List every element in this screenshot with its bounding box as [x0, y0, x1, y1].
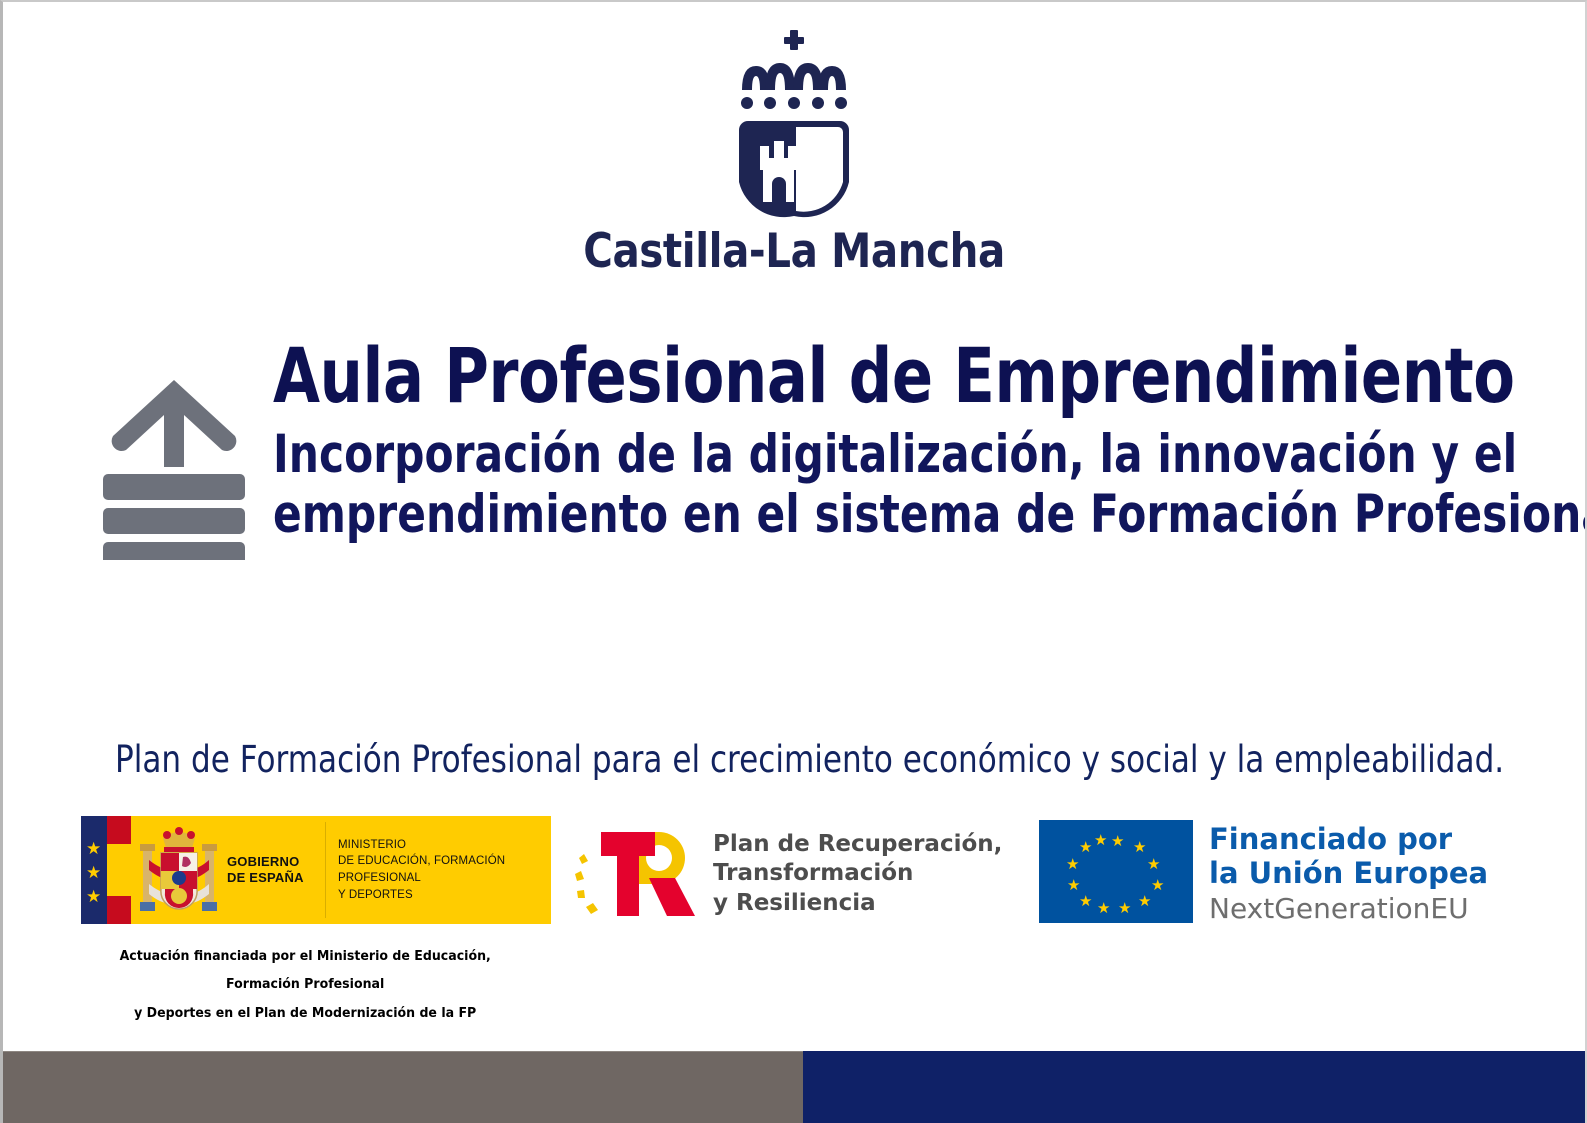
eu-funding-logo: ★ ★ ★ ★ ★ ★ ★ ★ ★ ★ ★ ★ Financiado por l… — [1039, 820, 1539, 930]
slide-canvas: Castilla-La Mancha Aula Profesional de E… — [0, 0, 1587, 1123]
prtr-line-1: Plan de Recuperación, — [713, 830, 1002, 859]
spain-coat-of-arms-icon — [131, 816, 227, 924]
gobierno-line-2: DE ESPAÑA — [227, 870, 304, 885]
funding-caption-line-1: Actuación financiada por el Ministerio d… — [95, 942, 515, 999]
eu-stars-strip-icon: ★ ★ ★ — [81, 816, 107, 924]
gobierno-de-espana-logo: ★ ★ ★ — [81, 816, 551, 924]
european-union-flag-icon: ★ ★ ★ ★ ★ ★ ★ ★ ★ ★ ★ ★ — [1039, 820, 1193, 923]
bottom-bar-right-navy — [803, 1051, 1585, 1123]
prtr-logo: Plan de Recuperación, Transformación y R… — [571, 822, 1011, 926]
prtr-line-3: y Resiliencia — [713, 889, 1002, 918]
ministry-label: MINISTERIO DE EDUCACIÓN, FORMACIÓN PROFE… — [338, 816, 551, 924]
funding-caption-line-2: y Deportes en el Plan de Modernización d… — [95, 999, 515, 1027]
eu-line-1: Financiado por — [1209, 822, 1488, 856]
bottom-bar-left-gray — [3, 1051, 803, 1123]
bottom-bar — [3, 1051, 1585, 1123]
logo-divider — [325, 822, 326, 918]
prtr-label: Plan de Recuperación, Transformación y R… — [713, 830, 1002, 918]
spain-flag-strip-icon — [107, 816, 131, 924]
brand-name: Castilla-La Mancha — [114, 224, 1475, 279]
gobierno-label: GOBIERNO DE ESPAÑA — [227, 816, 319, 924]
prtr-tr-monogram-icon — [571, 824, 699, 924]
funding-logos-row: ★ ★ ★ — [3, 814, 1585, 934]
gobierno-line-1: GOBIERNO — [227, 854, 299, 869]
plan-description-line: Plan de Formación Profesional para el cr… — [115, 738, 1504, 781]
prtr-line-2: Transformación — [713, 859, 1002, 888]
eu-line-2: la Unión Europea — [1209, 856, 1488, 890]
castilla-la-mancha-shield-icon — [714, 28, 874, 218]
eu-label: Financiado por la Unión Europea NextGene… — [1209, 820, 1488, 926]
funding-caption: Actuación financiada por el Ministerio d… — [95, 942, 515, 1027]
region-brand-block: Castilla-La Mancha — [3, 28, 1585, 279]
page-subtitle-line-2: emprendimiento en el sistema de Formació… — [273, 485, 1587, 544]
eu-line-3: NextGenerationEU — [1209, 892, 1488, 926]
ministry-line-3: Y DEPORTES — [338, 889, 413, 901]
ministry-line-1: MINISTERIO — [338, 839, 406, 851]
page-title: Aula Profesional de Emprendimiento — [273, 338, 1587, 413]
headline-text-block: Aula Profesional de Emprendimiento Incor… — [273, 338, 1587, 544]
page-subtitle-line-1: Incorporación de la digitalización, la i… — [273, 425, 1587, 484]
ministry-line-2: DE EDUCACIÓN, FORMACIÓN PROFESIONAL — [338, 855, 505, 884]
upload-stack-icon — [99, 374, 249, 565]
headline-row: Aula Profesional de Emprendimiento Incor… — [3, 338, 1585, 565]
